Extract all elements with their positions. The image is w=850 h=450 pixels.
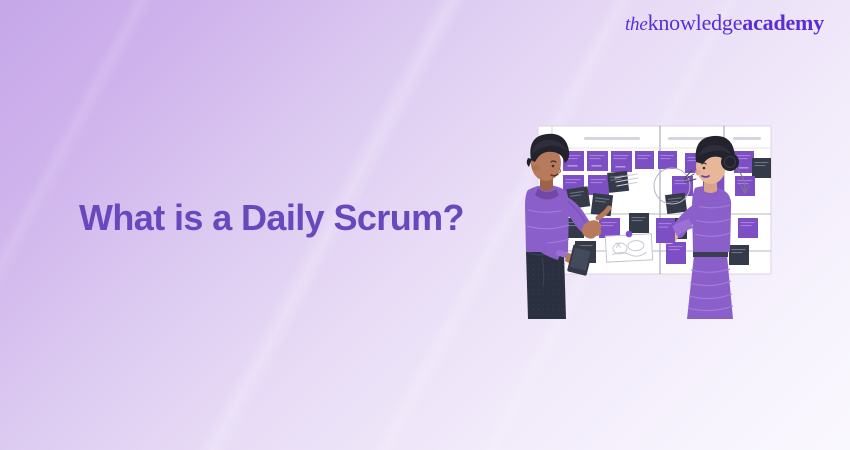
board-column-headers xyxy=(584,137,761,140)
page-title: What is a Daily Scrum? xyxy=(79,197,464,239)
woman-sticky-note xyxy=(656,218,675,243)
brand-logo-the: the xyxy=(625,14,648,35)
brand-logo[interactable]: theknowledgeacademy xyxy=(625,12,824,34)
pinned-sketch-paper xyxy=(605,234,652,262)
brand-logo-academy: academy xyxy=(742,10,824,35)
pin-icon xyxy=(626,231,633,238)
hero-illustration xyxy=(512,118,812,333)
brand-logo-knowledge: knowledge xyxy=(648,10,743,35)
